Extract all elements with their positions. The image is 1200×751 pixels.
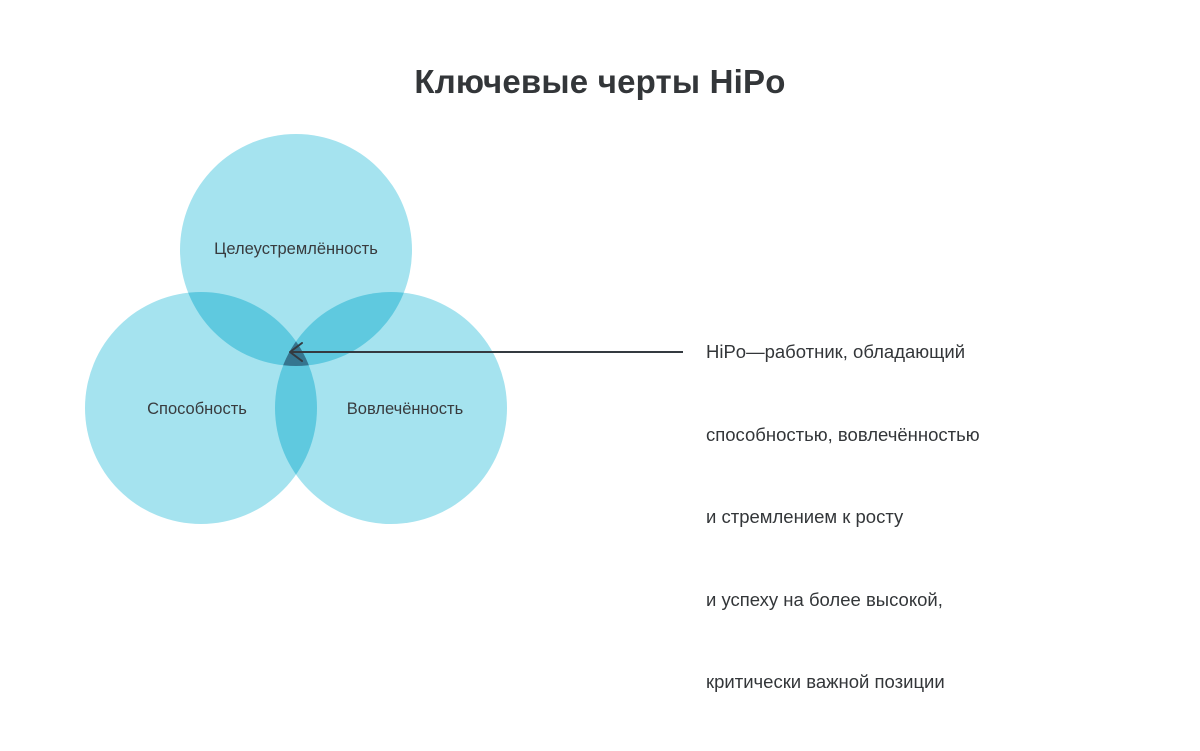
description-line-2: способностью, вовлечённостью	[706, 421, 1106, 449]
description-line-3: и стремлением к росту	[706, 503, 1106, 531]
description-line-1: HiPo—работник, обладающий	[706, 338, 1106, 366]
venn-label-left: Способность	[147, 400, 247, 418]
description-text: HiPo—работник, обладающий способностью, …	[706, 283, 1106, 751]
description-line-5: критически важной позиции	[706, 668, 1106, 696]
page-title: Ключевые черты HiPo	[0, 63, 1200, 101]
venn-label-right: Вовлечённость	[347, 400, 463, 418]
venn-svg: Целеустремлённость Способность Вовлечённ…	[0, 110, 700, 550]
description-line-4: и успеху на более высокой,	[706, 586, 1106, 614]
venn-diagram: Целеустремлённость Способность Вовлечённ…	[0, 110, 700, 550]
diagram-page: Ключевые черты HiPo	[0, 0, 1200, 598]
venn-label-top: Целеустремлённость	[214, 240, 378, 258]
